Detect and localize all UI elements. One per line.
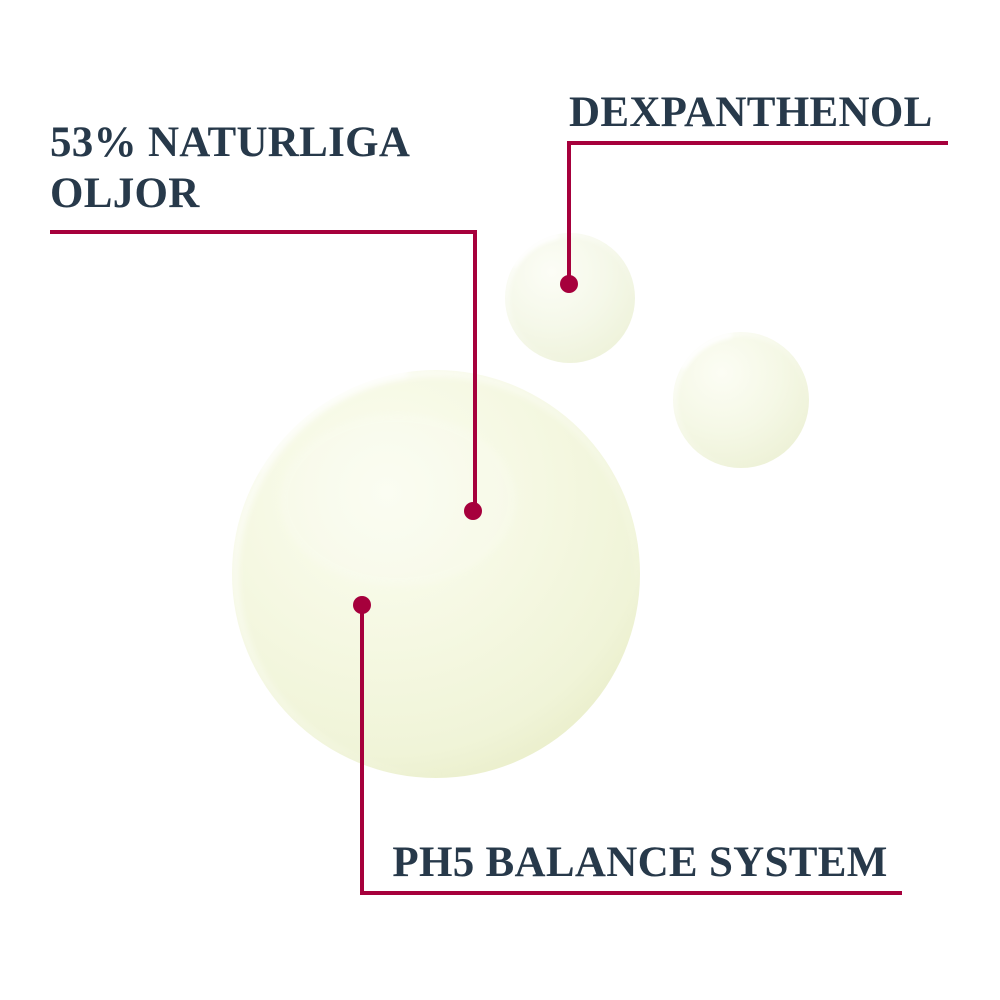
- label-natural-oils: 53% NATURLIGA OLJOR: [50, 118, 480, 219]
- callout-dexpanthenol-dot: [560, 275, 578, 293]
- label-dexpanthenol: DEXPANTHENOL: [569, 88, 969, 139]
- callout-natural-oils-path: [52, 232, 475, 505]
- callout-ph5-dot: [353, 596, 371, 614]
- callout-natural-oils-dot: [464, 502, 482, 520]
- label-ph5-balance-system: PH5 BALANCE SYSTEM: [360, 838, 920, 889]
- callout-natural-oils: [52, 232, 482, 520]
- callout-dexpanthenol-path: [569, 143, 946, 278]
- callout-dexpanthenol: [560, 143, 946, 293]
- ingredient-infographic: 53% NATURLIGA OLJOR DEXPANTHENOL PH5 BAL…: [0, 0, 1000, 1000]
